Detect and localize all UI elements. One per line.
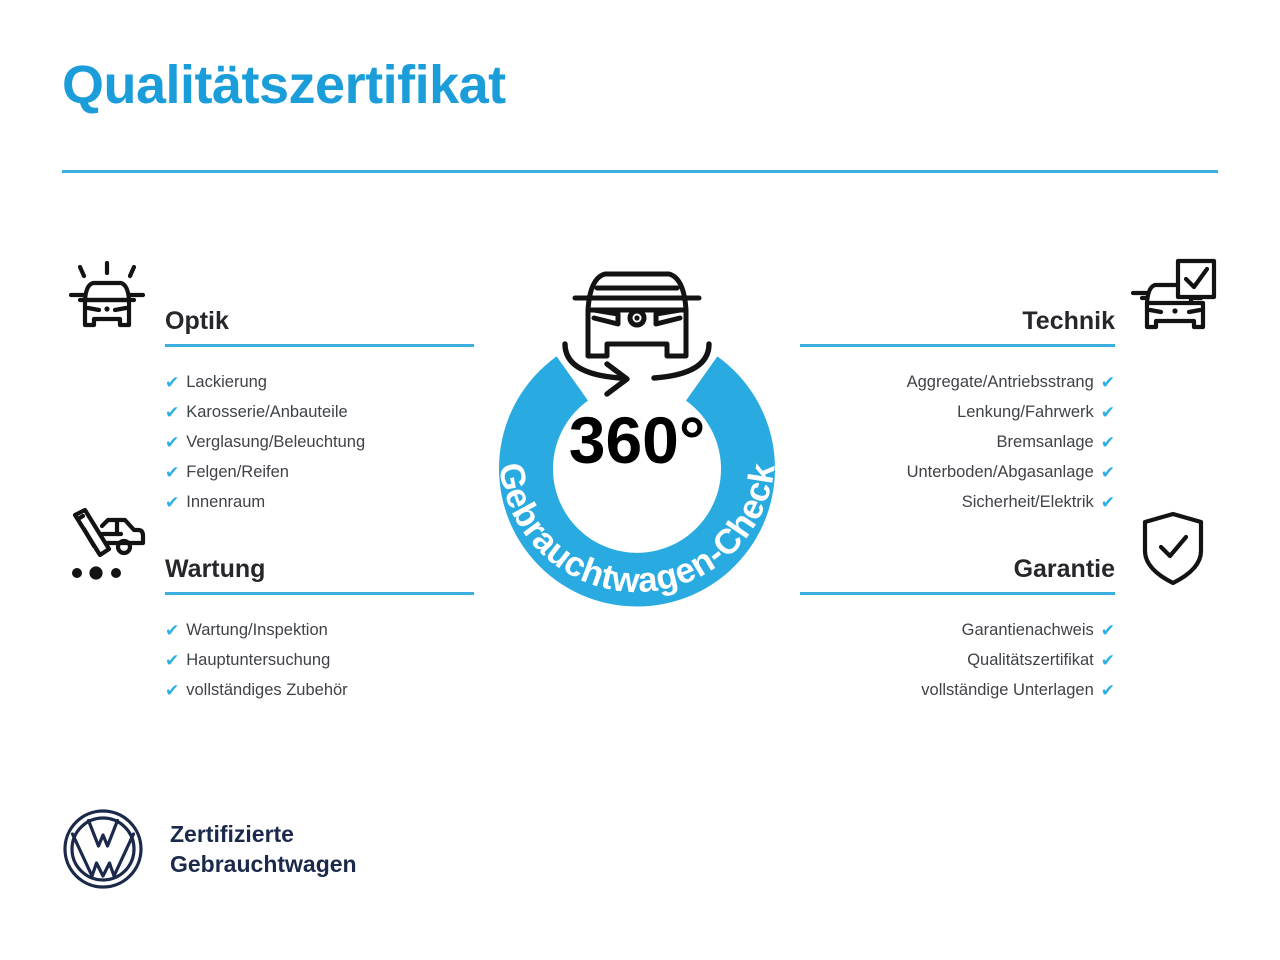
section-title-wrap: Garantie [800, 555, 1115, 595]
list-item: Garantienachweis ✔ [800, 615, 1115, 645]
section-header: Optik [62, 255, 474, 347]
list-item: ✔ Hauptuntersuchung [165, 645, 474, 675]
list-item: Qualitätszertifikat ✔ [800, 645, 1115, 675]
section-title: Technik [800, 307, 1115, 344]
section-optik: Optik ✔ Lackierung ✔ Karosserie/Anbautei… [62, 255, 474, 517]
list-item-label: Wartung/Inspektion [186, 615, 328, 645]
list-item: ✔ vollständiges Zubehör [165, 675, 474, 705]
check-icon: ✔ [1101, 404, 1115, 421]
list-item-label: Unterboden/Abgasanlage [907, 457, 1094, 487]
car-front-rotate-icon [565, 274, 709, 394]
checklist: Garantienachweis ✔ Qualitätszertifikat ✔… [800, 615, 1115, 705]
section-title-wrap: Technik [800, 307, 1115, 347]
list-item: Lenkung/Fahrwerk ✔ [800, 397, 1115, 427]
car-service-wrench-icon [62, 503, 152, 593]
list-item-label: Bremsanlage [997, 427, 1094, 457]
vw-logo-icon [62, 808, 144, 890]
list-item-label: Felgen/Reifen [186, 457, 289, 487]
shield-check-icon [1128, 503, 1218, 593]
check-icon: ✔ [1101, 622, 1115, 639]
section-title-wrap: Optik [165, 307, 474, 347]
section-technik: Technik Aggregate/Antriebsstrang ✔ Lenku… [800, 255, 1218, 517]
footer-brand: Zertifizierte Gebrauchtwagen [62, 808, 357, 890]
list-item: ✔ Wartung/Inspektion [165, 615, 474, 645]
section-title-wrap: Wartung [165, 555, 474, 595]
footer-text: Zertifizierte Gebrauchtwagen [170, 819, 357, 880]
list-item: Unterboden/Abgasanlage ✔ [800, 457, 1115, 487]
car-front-checkbox-icon [1128, 255, 1218, 345]
list-item-label: Aggregate/Antriebsstrang [907, 367, 1094, 397]
checklist: ✔ Wartung/Inspektion ✔ Hauptuntersuchung… [165, 615, 474, 705]
list-item: Bremsanlage ✔ [800, 427, 1115, 457]
list-item: ✔ Karosserie/Anbauteile [165, 397, 474, 427]
list-item-label: Hauptuntersuchung [186, 645, 330, 675]
list-item-label: Garantienachweis [962, 615, 1094, 645]
checklist: Aggregate/Antriebsstrang ✔ Lenkung/Fahrw… [800, 367, 1115, 517]
section-divider [165, 592, 474, 595]
section-title: Wartung [165, 555, 474, 592]
section-title: Garantie [800, 555, 1115, 592]
page-title: Qualitätszertifikat [62, 56, 506, 115]
check-icon: ✔ [1101, 652, 1115, 669]
list-item-label: Lenkung/Fahrwerk [957, 397, 1094, 427]
gebrauchtwagen-check-badge: Gebrauchtwagen-Check 360° [455, 248, 819, 632]
check-icon: ✔ [165, 464, 179, 481]
list-item-label: Verglasung/Beleuchtung [186, 427, 365, 457]
list-item-label: vollständiges Zubehör [186, 675, 347, 705]
section-divider [165, 344, 474, 347]
section-header: Wartung [62, 503, 474, 595]
section-wartung: Wartung ✔ Wartung/Inspektion ✔ Hauptunte… [62, 503, 474, 705]
check-icon: ✔ [1101, 682, 1115, 699]
section-header: Garantie [800, 503, 1218, 595]
check-icon: ✔ [165, 622, 179, 639]
section-divider [800, 344, 1115, 347]
badge-center-label: 360° [569, 403, 706, 477]
check-icon: ✔ [165, 434, 179, 451]
list-item: ✔ Verglasung/Beleuchtung [165, 427, 474, 457]
section-title: Optik [165, 307, 474, 344]
list-item: Aggregate/Antriebsstrang ✔ [800, 367, 1115, 397]
footer-line-2: Gebrauchtwagen [170, 849, 357, 879]
list-item-label: Lackierung [186, 367, 267, 397]
check-icon: ✔ [1101, 434, 1115, 451]
check-icon: ✔ [165, 652, 179, 669]
check-icon: ✔ [1101, 374, 1115, 391]
section-divider [800, 592, 1115, 595]
footer-line-1: Zertifizierte [170, 819, 357, 849]
check-icon: ✔ [165, 682, 179, 699]
list-item: ✔ Lackierung [165, 367, 474, 397]
section-header: Technik [800, 255, 1218, 347]
list-item: vollständige Unterlagen ✔ [800, 675, 1115, 705]
title-divider [62, 170, 1218, 173]
check-icon: ✔ [1101, 464, 1115, 481]
car-front-shine-icon [62, 255, 152, 345]
list-item: ✔ Felgen/Reifen [165, 457, 474, 487]
list-item-label: Karosserie/Anbauteile [186, 397, 347, 427]
list-item-label: vollständige Unterlagen [921, 675, 1093, 705]
checklist: ✔ Lackierung ✔ Karosserie/Anbauteile ✔ V… [165, 367, 474, 517]
section-garantie: Garantie Garantienachweis ✔ Qualitätszer… [800, 503, 1218, 705]
list-item-label: Qualitätszertifikat [967, 645, 1094, 675]
check-icon: ✔ [165, 374, 179, 391]
check-icon: ✔ [165, 404, 179, 421]
